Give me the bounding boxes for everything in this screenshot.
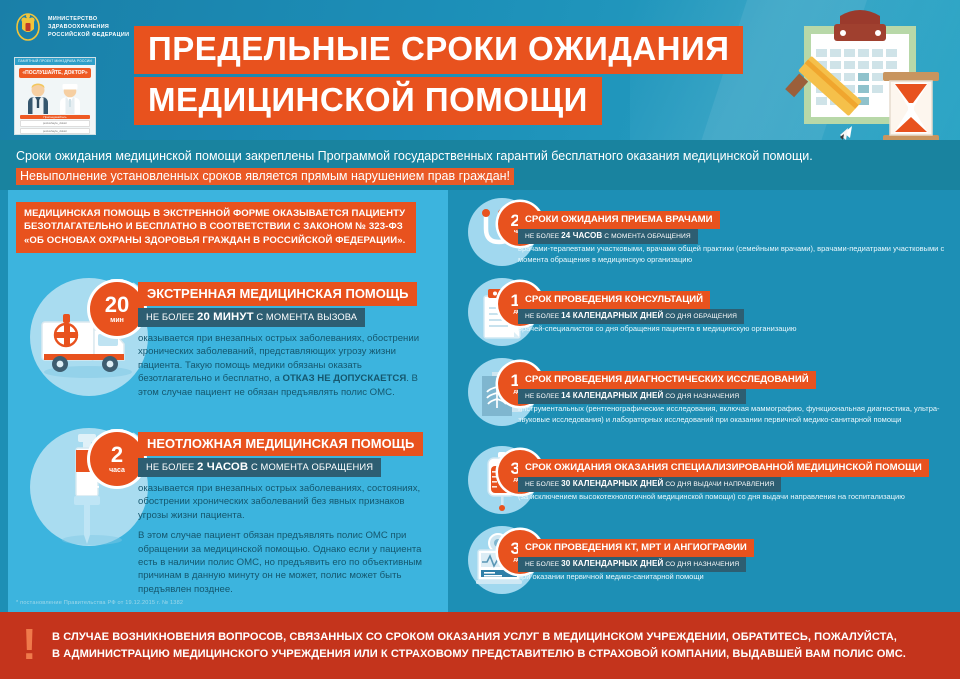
badge-20-min: 20 мин bbox=[90, 282, 144, 336]
hourglass-icon bbox=[883, 72, 939, 140]
russian-coat-of-arms-icon bbox=[14, 12, 42, 42]
subheader-line-2: Невыполнение установленных сроков являет… bbox=[16, 168, 514, 185]
block-heading-emergency: ЭКСТРЕННАЯ МЕДИЦИНСКАЯ ПОМОЩЬ bbox=[138, 282, 417, 306]
footer-text: В СЛУЧАЕ ВОЗНИКНОВЕНИЯ ВОПРОСОВ, СВЯЗАНН… bbox=[52, 629, 906, 663]
right-subtitle-3: НЕ БОЛЕЕ 30 КАЛЕНДАРНЫХ ДНЕЙ СО ДНЯ ВЫДА… bbox=[518, 477, 781, 492]
poster-bar-1: Присоединяйтесь bbox=[20, 115, 90, 119]
urgent-paragraph-1: оказывается при внезапных острых заболев… bbox=[138, 482, 434, 522]
footer-line-2: В АДМИНИСТРАЦИЮ МЕДИЦИНСКОГО УЧРЕЖДЕНИЯ … bbox=[52, 646, 906, 663]
exclamation-icon: ! bbox=[22, 626, 35, 664]
right-heading-2: СРОК ПРОВЕДЕНИЯ ДИАГНОСТИЧЕСКИХ ИССЛЕДОВ… bbox=[518, 371, 816, 389]
right-subtitle-0: НЕ БОЛЕЕ 24 ЧАСОВ С МОМЕНТА ОБРАЩЕНИЯ bbox=[518, 229, 698, 244]
badge-2-hours: 2 часа bbox=[90, 432, 144, 486]
footer-line-1: В СЛУЧАЕ ВОЗНИКНОВЕНИЯ ВОПРОСОВ, СВЯЗАНН… bbox=[52, 629, 906, 646]
poster-bar-2: poslushayte_doktor bbox=[20, 120, 90, 126]
doctor-figure-icon bbox=[57, 82, 83, 114]
right-heading-3: СРОК ОЖИДАНИЯ ОКАЗАНИЯ СПЕЦИАЛИЗИРОВАННО… bbox=[518, 459, 929, 477]
subheader-line-1: Сроки ожидания медицинской помощи закреп… bbox=[16, 149, 813, 163]
right-subtitle-1: НЕ БОЛЕЕ 14 КАЛЕНДАРНЫХ ДНЕЙ СО ДНЯ ОБРА… bbox=[518, 309, 744, 324]
right-body-0: врачами-терапевтами участковыми, врачами… bbox=[518, 244, 948, 265]
right-body-2: инструментальных (рентгенографические ис… bbox=[518, 404, 948, 425]
right-body-4: при оказании первичной медико-санитарной… bbox=[518, 572, 948, 583]
block-subtitle-urgent: НЕ БОЛЕЕ 2 ЧАСОВ С МОМЕНТА ОБРАЩЕНИЯ bbox=[138, 458, 381, 477]
right-subtitle-4: НЕ БОЛЕЕ 30 КАЛЕНДАРНЫХ ДНЕЙ СО ДНЯ НАЗН… bbox=[518, 557, 746, 572]
page-title-line-1: ПРЕДЕЛЬНЫЕ СРОКИ ОЖИДАНИЯ bbox=[134, 26, 743, 74]
body: МЕДИЦИНСКАЯ ПОМОЩЬ В ЭКСТРЕННОЙ ФОРМЕ ОК… bbox=[0, 190, 960, 612]
subheader-banner: Сроки ожидания медицинской помощи закреп… bbox=[0, 140, 960, 190]
right-column: 24 часа СРОКИ ОЖИДАНИЯ ПРИЕМА ВРАЧАМИ НЕ… bbox=[456, 190, 956, 612]
right-subtitle-2: НЕ БОЛЕЕ 14 КАЛЕНДАРНЫХ ДНЕЙ СО ДНЯ НАЗН… bbox=[518, 389, 746, 404]
header: МИНИСТЕРСТВО ЗДРАВООХРАНЕНИЯ РОССИЙСКОЙ … bbox=[0, 0, 960, 140]
block-body-emergency: оказывается при внезапных острых заболев… bbox=[138, 332, 430, 399]
poster-figures bbox=[15, 80, 95, 114]
poster-bar-3: poslushayte_doktor bbox=[20, 128, 90, 134]
ministry-name: МИНИСТЕРСТВО ЗДРАВООХРАНЕНИЯ РОССИЙСКОЙ … bbox=[48, 15, 129, 39]
right-heading-1: СРОК ПРОВЕДЕНИЯ КОНСУЛЬТАЦИЙ bbox=[518, 291, 710, 309]
urgent-paragraph-2: В этом случае пациент обязан предъявлять… bbox=[138, 529, 434, 596]
calendar-pencil-hourglass-illustration bbox=[782, 4, 954, 140]
footer-banner: ! В СЛУЧАЕ ВОЗНИКНОВЕНИЯ ВОПРОСОВ, СВЯЗА… bbox=[0, 612, 960, 679]
block-body-urgent: оказывается при внезапных острых заболев… bbox=[138, 482, 434, 603]
poster-top-strip: ПАМЯТНЫЙ ПРОЕКТ МИНЗДРАВА РОССИИ bbox=[15, 58, 95, 65]
right-heading-0: СРОКИ ОЖИДАНИЯ ПРИЕМА ВРАЧАМИ bbox=[518, 211, 720, 229]
block-heading-urgent: НЕОТЛОЖНАЯ МЕДИЦИНСКАЯ ПОМОЩЬ bbox=[138, 432, 423, 456]
block-subtitle-emergency: НЕ БОЛЕЕ 20 МИНУТ С МОМЕНТА ВЫЗОВА bbox=[138, 308, 365, 327]
patient-figure-icon bbox=[25, 82, 51, 114]
page-title: ПРЕДЕЛЬНЫЕ СРОКИ ОЖИДАНИЯ МЕДИЦИНСКОЙ ПО… bbox=[134, 26, 743, 128]
campaign-poster-thumbnail: ПАМЯТНЫЙ ПРОЕКТ МИНЗДРАВА РОССИИ «ПОСЛУШ… bbox=[14, 57, 96, 135]
ministry-logo: МИНИСТЕРСТВО ЗДРАВООХРАНЕНИЯ РОССИЙСКОЙ … bbox=[14, 12, 129, 42]
poster-slogan: «ПОСЛУШАЙТЕ, ДОКТОР» bbox=[19, 68, 91, 78]
right-heading-4: СРОК ПРОВЕДЕНИЯ КТ, МРТ И АНГИОГРАФИИ bbox=[518, 539, 754, 557]
page-title-line-2: МЕДИЦИНСКОЙ ПОМОЩИ bbox=[134, 77, 602, 125]
right-body-1: врачей-специалистов со дня обращения пац… bbox=[518, 324, 948, 335]
right-body-3: (за исключением высокотехнологичной меди… bbox=[518, 492, 948, 503]
legal-footnote: * постановление Правительства РФ от 19.1… bbox=[16, 600, 183, 606]
left-panel: МЕДИЦИНСКАЯ ПОМОЩЬ В ЭКСТРЕННОЙ ФОРМЕ ОК… bbox=[8, 190, 448, 612]
infographic-page: МИНИСТЕРСТВО ЗДРАВООХРАНЕНИЯ РОССИЙСКОЙ … bbox=[0, 0, 960, 679]
law-reference-box: МЕДИЦИНСКАЯ ПОМОЩЬ В ЭКСТРЕННОЙ ФОРМЕ ОК… bbox=[16, 202, 416, 253]
poster-social-bars: Присоединяйтесь poslushayte_doktor poslu… bbox=[15, 114, 95, 134]
